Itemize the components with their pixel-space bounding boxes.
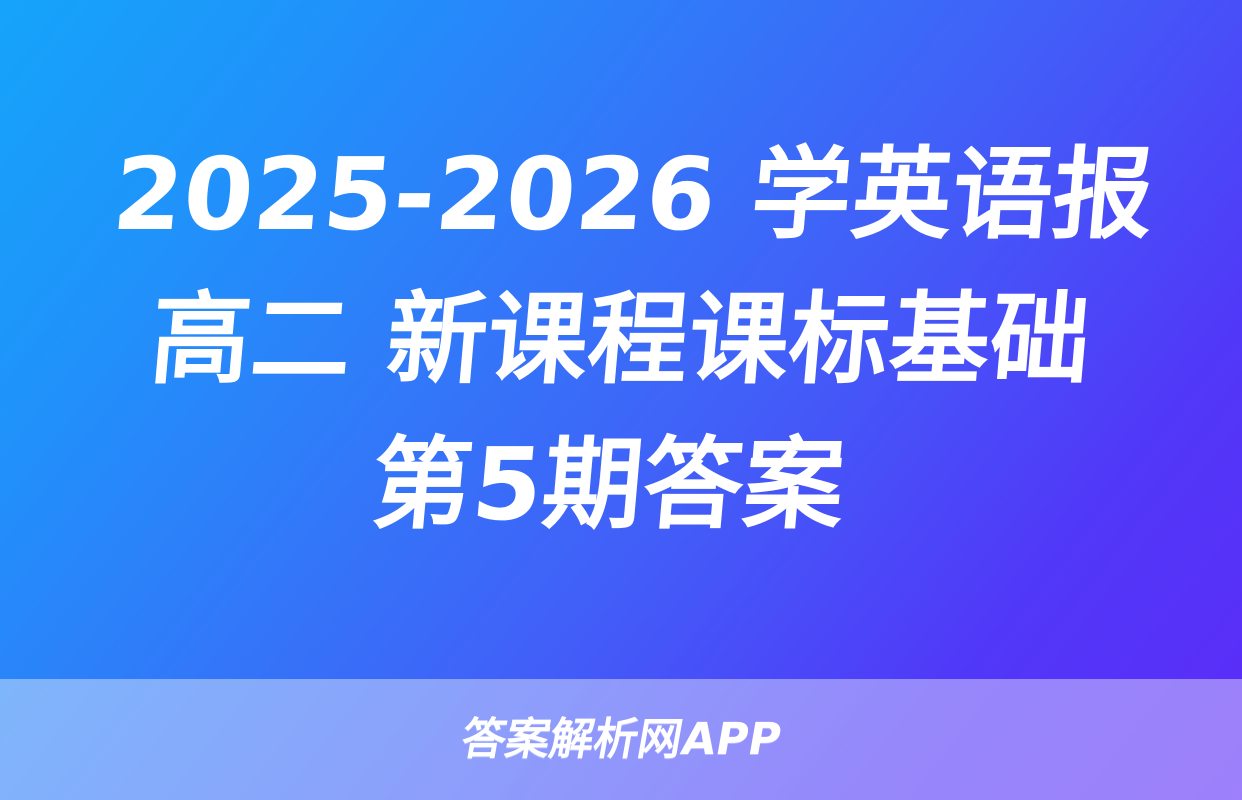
page-title: 2025-2026 学英语报 高二 新课程课标基础 第5期答案 xyxy=(41,122,1201,557)
answer-cover-poster: 2025-2026 学英语报 高二 新课程课标基础 第5期答案 答案解析网APP xyxy=(0,0,1242,800)
app-watermark-label: 答案解析网APP xyxy=(458,718,784,762)
app-watermark-band: 答案解析网APP xyxy=(0,679,1242,800)
headline-container: 2025-2026 学英语报 高二 新课程课标基础 第5期答案 xyxy=(0,0,1242,679)
